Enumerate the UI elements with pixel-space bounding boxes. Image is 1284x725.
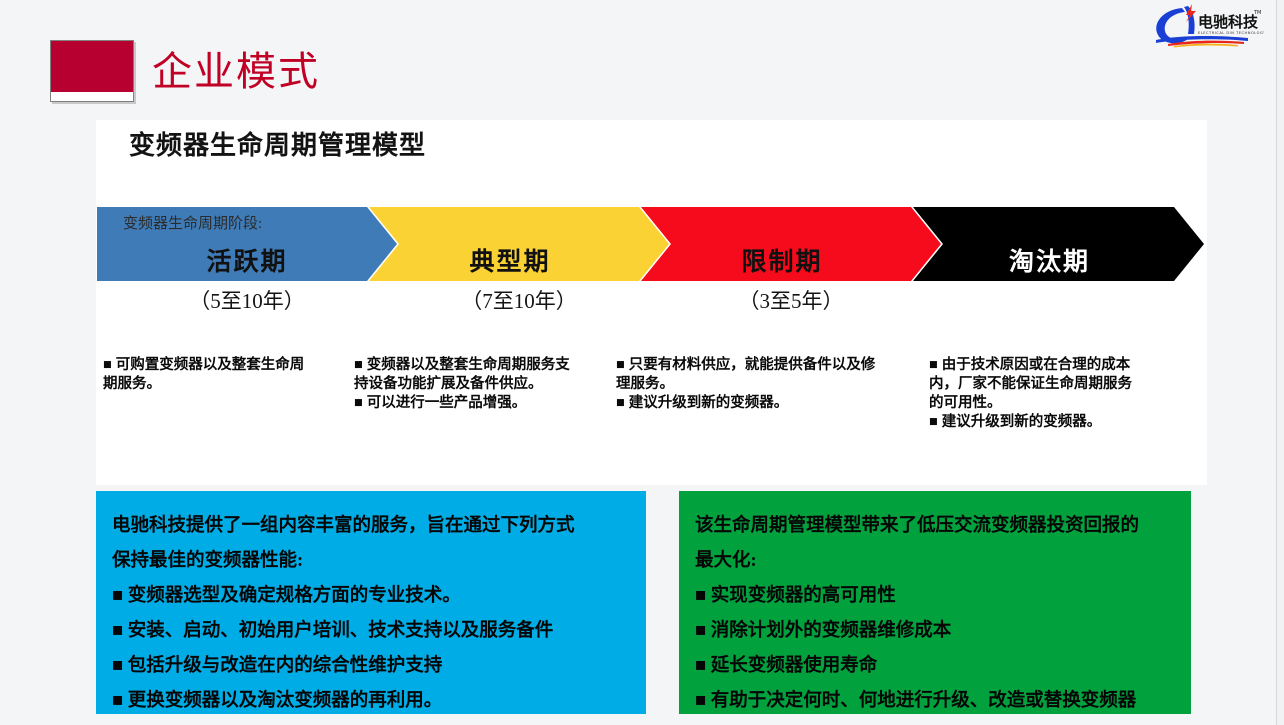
page-title: 企业模式 [152, 44, 320, 100]
stage-bullet-column: ■ 变频器以及整套生命周期服务支 持设备功能扩展及备件供应。 ■ 可以进行一些产… [354, 356, 604, 413]
right-gutter-strip [1276, 0, 1284, 725]
logo-trademark: TM [1253, 10, 1261, 16]
callout-line: ■ 延长变频器使用寿命 [695, 649, 1171, 684]
bullet-line: ■ 建议升级到新的变频器。 [929, 413, 1179, 432]
svg-text:电驰科技: 电驰科技 [1198, 13, 1259, 31]
bullet-line: 理服务。 [616, 375, 881, 394]
stage-axis-label: 变频器生命周期阶段: [123, 212, 262, 233]
lifecycle-stage-limited[interactable]: 限制期 [641, 207, 941, 281]
stage-bullet-columns: ■ 可购置变频器以及整套生命周 期服务。 ■ 变频器以及整套生命周期服务支 持设… [97, 356, 1204, 476]
callout-line: 该生命周期管理模型带来了低压交流变频器投资回报的 [695, 509, 1171, 544]
stage-duration: （3至5年） [641, 285, 941, 315]
panel-heading: 变频器生命周期管理模型 [129, 125, 426, 162]
services-callout-box: 电驰科技提供了一组内容丰富的服务，旨在通过下列方式 保持最佳的变频器性能: ■ … [96, 491, 646, 714]
lifecycle-stage-obsolete[interactable]: 淘汰期 [913, 207, 1204, 281]
brand-logo: 电驰科技 TM ELECTRICAL DIN TECHNOLOGY [1148, 2, 1264, 50]
lifecycle-duration-row: （5至10年） （7至10年） （3至5年） [97, 285, 1204, 315]
stage-duration: （7至10年） [369, 285, 669, 315]
bullet-line: ■ 变频器以及整套生命周期服务支 [354, 356, 604, 375]
bullet-line: 持设备功能扩展及备件供应。 [354, 375, 604, 394]
callout-line: ■ 实现变频器的高可用性 [695, 579, 1171, 614]
bullet-line: ■ 可购置变频器以及整套生命周 [103, 356, 348, 375]
callout-line: ■ 更换变频器以及淘汰变频器的再利用。 [112, 684, 626, 714]
logo-english-text: ELECTRICAL DIN TECHNOLOGY [1198, 31, 1264, 35]
callout-line: ■ 有助于决定何时、何地进行升级、改造或替换变频器 [695, 684, 1171, 714]
callout-line: 电驰科技提供了一组内容丰富的服务，旨在通过下列方式 [112, 509, 626, 544]
title-marker-block [50, 40, 134, 102]
stage-name: 活跃期 [97, 242, 397, 278]
stage-duration: （5至10年） [97, 285, 397, 315]
title-marker-foot [51, 92, 133, 101]
callout-line: ■ 变频器选型及确定规格方面的专业技术。 [112, 579, 626, 614]
bullet-line: ■ 只要有材料供应，就能提供备件以及修 [616, 356, 881, 375]
bullet-line: 的可用性。 [929, 394, 1179, 413]
logo-chinese-text: 电驰科技 [1198, 13, 1259, 31]
slide-header: 企业模式 电驰科技 TM ELECTRICAL DIN TECHNOLOGY [0, 0, 1276, 118]
callout-line: 最大化: [695, 544, 1171, 579]
stage-bullet-column: ■ 只要有材料供应，就能提供备件以及修 理服务。 ■ 建议升级到新的变频器。 [616, 356, 881, 413]
lifecycle-stage-classic[interactable]: 典型期 [369, 207, 669, 281]
bullet-line: ■ 由于技术原因或在合理的成本 [929, 356, 1179, 375]
bullet-line: ■ 可以进行一些产品增强。 [354, 394, 604, 413]
bullet-line: 内，厂家不能保证生命周期服务 [929, 375, 1179, 394]
callout-line: 保持最佳的变频器性能: [112, 544, 626, 579]
stage-bullet-column: ■ 可购置变频器以及整套生命周 期服务。 [103, 356, 348, 394]
callout-line: ■ 消除计划外的变频器维修成本 [695, 614, 1171, 649]
stage-name: 淘汰期 [913, 242, 1204, 278]
stage-bullet-column: ■ 由于技术原因或在合理的成本 内，厂家不能保证生命周期服务 的可用性。 ■ 建… [929, 356, 1179, 432]
lifecycle-stage-active[interactable]: 变频器生命周期阶段: 活跃期 [97, 207, 397, 281]
stage-name: 典型期 [369, 242, 669, 278]
lifecycle-chevron-band: 变频器生命周期阶段: 活跃期 典型期 限制期 淘汰期 [97, 207, 1204, 281]
content-panel: 变频器生命周期管理模型 变频器生命周期阶段: 活跃期 典型期 限制期 淘汰期 （… [96, 120, 1207, 485]
bullet-line: ■ 建议升级到新的变频器。 [616, 394, 881, 413]
benefits-callout-box: 该生命周期管理模型带来了低压交流变频器投资回报的 最大化: ■ 实现变频器的高可… [679, 491, 1191, 714]
bullet-line: 期服务。 [103, 375, 348, 394]
callout-line: ■ 包括升级与改造在内的综合性维护支持 [112, 649, 626, 684]
stage-name: 限制期 [641, 242, 941, 278]
callout-line: ■ 安装、启动、初始用户培训、技术支持以及服务备件 [112, 614, 626, 649]
